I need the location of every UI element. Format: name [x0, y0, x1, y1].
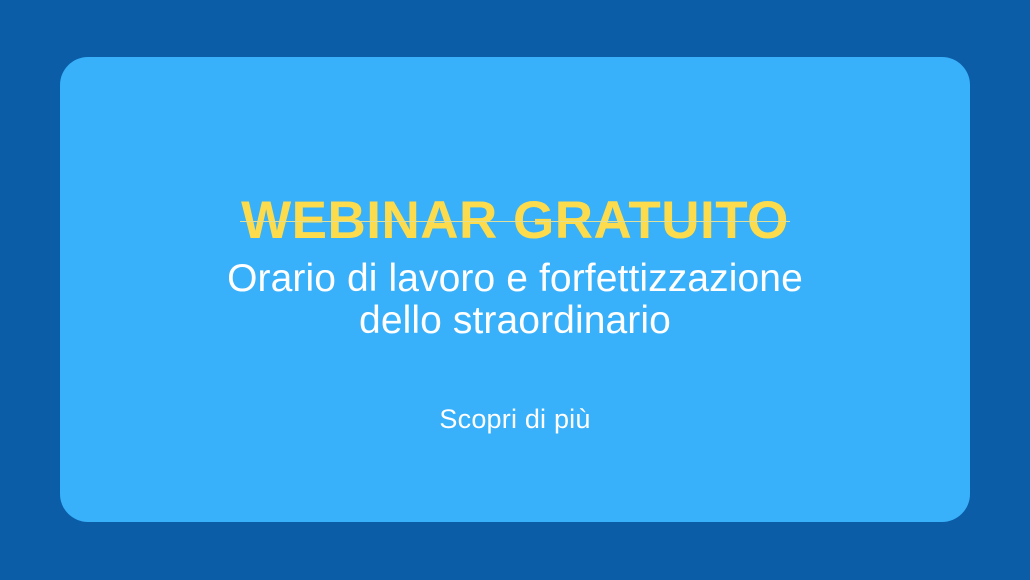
title-divider [240, 221, 790, 222]
promo-card[interactable]: WEBINAR GRATUITO Orario di lavoro e forf… [60, 57, 970, 522]
webinar-subtitle-line-1: Orario di lavoro e forfettizzazione [80, 258, 950, 300]
discover-more-link[interactable]: Scopri di più [60, 402, 970, 436]
webinar-promo-banner: WEBINAR GRATUITO Orario di lavoro e forf… [0, 0, 1030, 580]
webinar-subtitle-line-2: dello straordinario [80, 300, 950, 342]
promo-card-content: WEBINAR GRATUITO Orario di lavoro e forf… [60, 57, 970, 522]
webinar-subtitle: Orario di lavoro e forfettizzazione dell… [80, 258, 950, 342]
